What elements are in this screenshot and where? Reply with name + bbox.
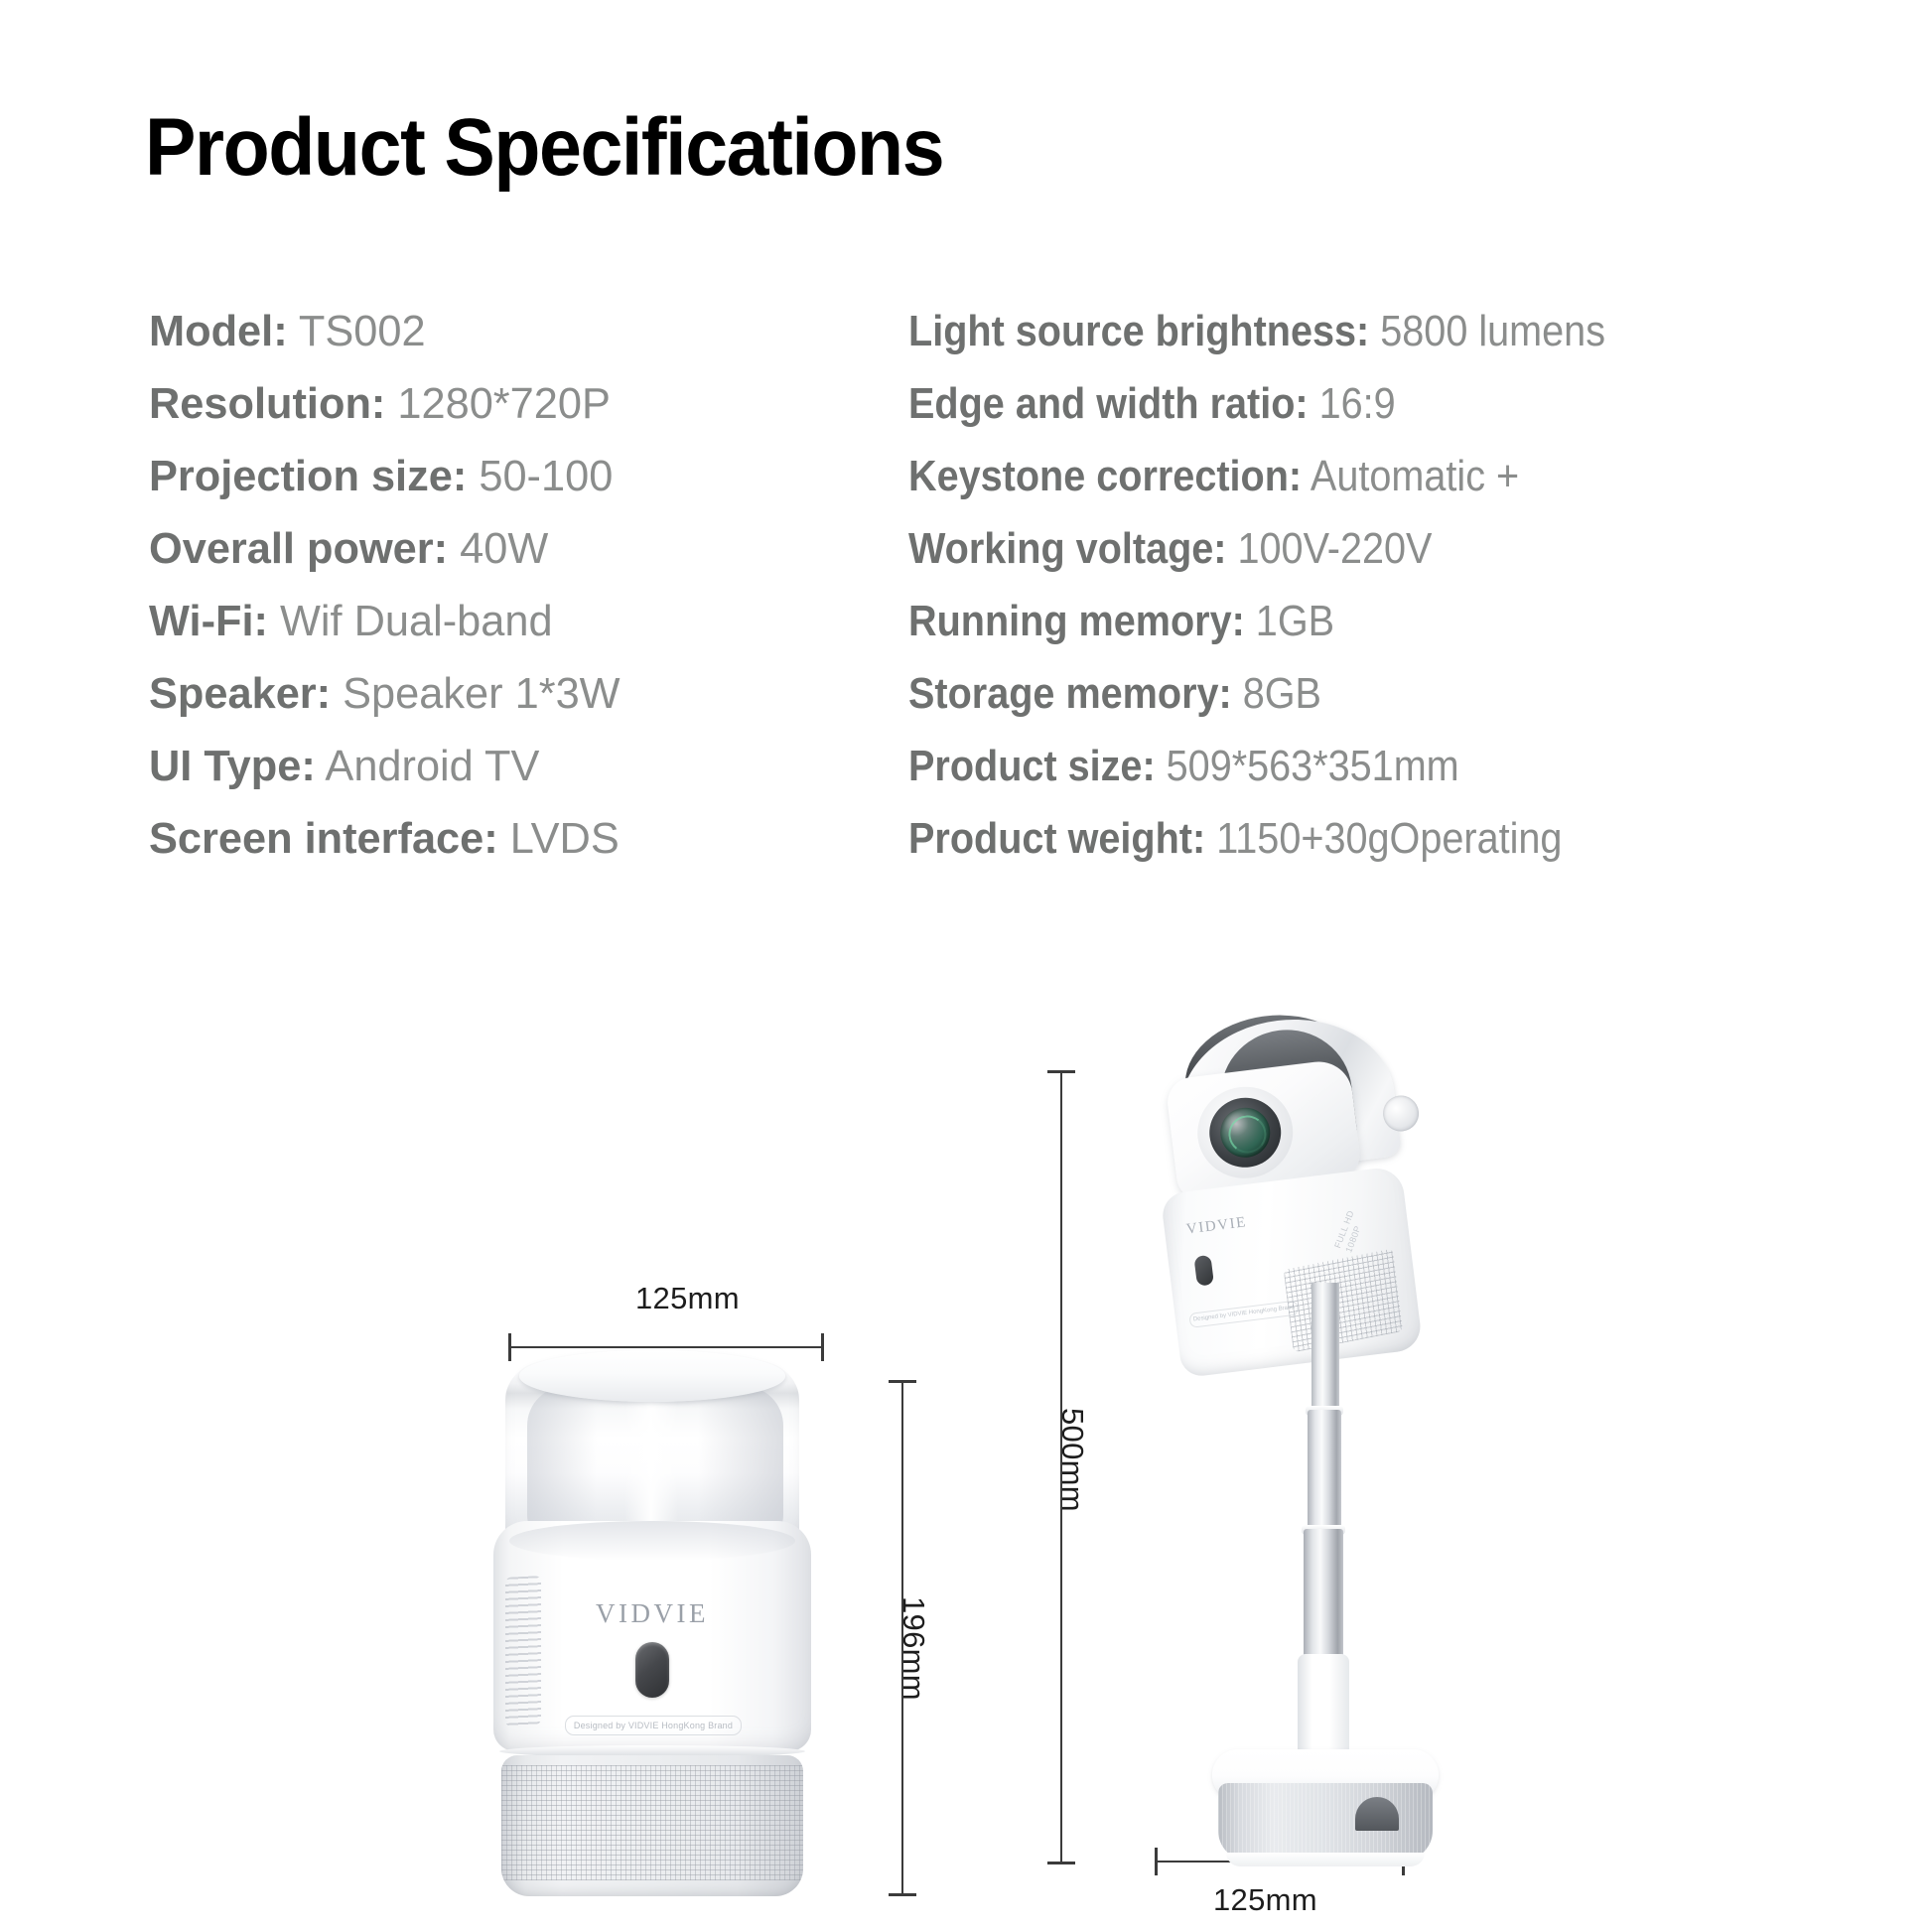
folded-width-dimension-label: 125mm <box>635 1281 740 1316</box>
spec-label: Storage memory: <box>908 669 1232 718</box>
spec-label: Screen interface: <box>149 814 498 863</box>
folded-body: VIDVIE Designed by VIDVIE HongKong Brand <box>493 1521 811 1751</box>
folded-projector-image: VIDVIE Designed by VIDVIE HongKong Brand <box>493 1360 811 1896</box>
spec-row: Light source brightness: 5800 lumens <box>908 310 1766 353</box>
designed-by-label: Designed by VIDVIE HongKong Brand <box>565 1716 742 1735</box>
spec-column-right: Light source brightness: 5800 lumens Edg… <box>908 310 1862 890</box>
spec-value: 50-100 <box>467 452 613 500</box>
spec-label: Keystone correction: <box>908 452 1302 500</box>
spec-value: 5800 lumens <box>1369 307 1605 355</box>
folded-drum-lip <box>519 1350 785 1402</box>
spec-row: Storage memory: 8GB <box>908 672 1766 716</box>
pole-segment-lower <box>1304 1529 1343 1660</box>
spec-value: TS002 <box>288 307 426 355</box>
spec-value: 40W <box>448 524 548 573</box>
spec-value: Speaker 1*3W <box>331 669 620 718</box>
spec-row: Product size: 509*563*351mm <box>908 745 1766 788</box>
spec-label: Light source brightness: <box>908 307 1369 355</box>
spec-label: Resolution: <box>149 379 385 428</box>
pole-segment-top <box>1311 1283 1339 1420</box>
product-figures-section: 125mm 196mm VIDVIE Designed by VIDVIE Ho… <box>0 1013 1932 1932</box>
projector-body: VIDVIE FULL HD 1080P Designed by VIDVIE … <box>1161 1166 1424 1378</box>
spec-value: 100V-220V <box>1226 524 1432 573</box>
stand-side-tag: FULL HD 1080P <box>1331 1186 1388 1259</box>
page-title: Product Specifications <box>145 107 943 189</box>
lens-barrel <box>1205 1094 1285 1172</box>
spec-row: Keystone correction: Automatic + <box>908 455 1766 498</box>
spec-label: Model: <box>149 307 288 355</box>
spec-row: Projection size: 50-100 <box>149 455 873 498</box>
spec-value: Android TV <box>316 742 540 790</box>
spec-label: Product size: <box>908 742 1156 790</box>
spec-row: UI Type: Android TV <box>149 745 873 788</box>
spec-value: 1150+30gOperating <box>1205 814 1562 863</box>
spec-label: Projection size: <box>149 452 467 500</box>
lens-bezel <box>1192 1081 1298 1183</box>
folded-width-dimension-line <box>508 1346 824 1348</box>
stand-power-button <box>1193 1255 1214 1287</box>
spec-row: Working voltage: 100V-220V <box>908 527 1766 571</box>
speaker-grille-base <box>501 1755 803 1896</box>
spec-row: Speaker: Speaker 1*3W <box>149 672 873 716</box>
spec-value: Automatic + <box>1302 452 1519 500</box>
pole-segment-middle <box>1308 1410 1341 1539</box>
spec-label: Running memory: <box>908 597 1245 645</box>
spec-label: Working voltage: <box>908 524 1226 573</box>
spec-row: Product weight: 1150+30gOperating <box>908 817 1766 861</box>
spec-row: Overall power: 40W <box>149 527 873 571</box>
spec-row: Running memory: 1GB <box>908 600 1766 643</box>
folded-height-dimension-label: 196mm <box>896 1596 931 1701</box>
body-top-shade <box>509 1521 795 1561</box>
spec-label: Product weight: <box>908 814 1205 863</box>
spec-value: LVDS <box>498 814 620 863</box>
stand-base-port-icon <box>1355 1797 1399 1831</box>
spec-value: 509*563*351mm <box>1156 742 1459 790</box>
stand-height-dimension-label: 500mm <box>1054 1408 1090 1512</box>
product-specifications-page: Product Specifications Model: TS002 Reso… <box>0 0 1932 1932</box>
spec-value: Wif Dual-band <box>268 597 553 645</box>
power-button <box>635 1642 669 1698</box>
stand-vent-grille-icon <box>1284 1248 1403 1352</box>
spec-column-left: Model: TS002 Resolution: 1280*720P Proje… <box>149 310 884 890</box>
spec-value: 1280*720P <box>385 379 611 428</box>
spec-row: Resolution: 1280*720P <box>149 382 873 426</box>
spec-label: Speaker: <box>149 669 331 718</box>
stand-base-foot <box>1226 1853 1425 1866</box>
spec-label: Overall power: <box>149 524 448 573</box>
stand-designed-by-label: Designed by VIDVIE HongKong Brand <box>1188 1301 1299 1328</box>
spec-row: Wi-Fi: Wif Dual-band <box>149 600 873 643</box>
spec-row: Edge and width ratio: 16:9 <box>908 382 1766 426</box>
brand-logo: VIDVIE <box>493 1598 811 1629</box>
lens-coating-ring <box>1226 1113 1268 1155</box>
stand-brand-logo: VIDVIE <box>1185 1214 1248 1238</box>
spec-row: Model: TS002 <box>149 310 873 353</box>
spec-value: 1GB <box>1245 597 1334 645</box>
spec-value: 8GB <box>1232 669 1321 718</box>
spec-row: Screen interface: LVDS <box>149 817 873 861</box>
lens-glass-icon <box>1217 1105 1273 1161</box>
stand-projector-image: VIDVIE FULL HD 1080P Designed by VIDVIE … <box>1127 1013 1544 1886</box>
spec-label: Wi-Fi: <box>149 597 268 645</box>
stand-width-dimension-label: 125mm <box>1213 1882 1317 1918</box>
stand-base-band <box>1218 1783 1433 1861</box>
spec-label: UI Type: <box>149 742 316 790</box>
spec-value: 16:9 <box>1309 379 1396 428</box>
spec-label: Edge and width ratio: <box>908 379 1309 428</box>
